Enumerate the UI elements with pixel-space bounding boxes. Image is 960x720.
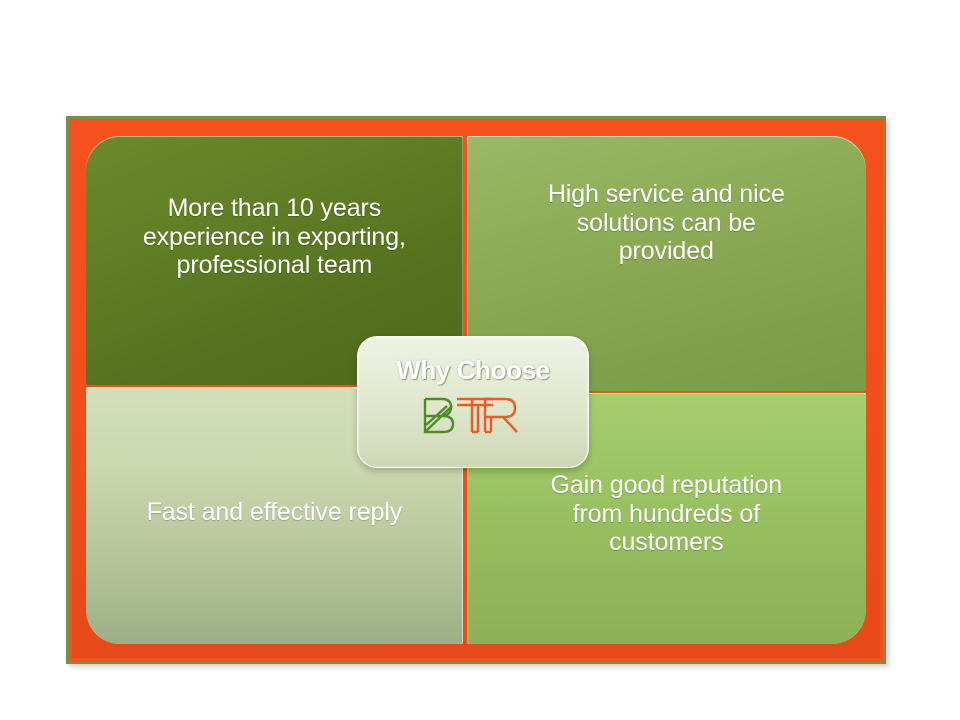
badge-title: Why Choose [396,355,549,386]
center-badge[interactable]: Why Choose BTR [357,336,589,468]
btr-logo-icon [419,392,527,443]
quadrant-bottom-left-text: Fast and effective reply [112,498,436,527]
quadrant-top-right-text: High service and nice solutions can be p… [495,180,838,266]
quadrant-bottom-right-text: Gain good reputation from hundreds of cu… [495,471,838,557]
quadrant-top-left-text: More than 10 years experience in exporti… [112,194,436,280]
